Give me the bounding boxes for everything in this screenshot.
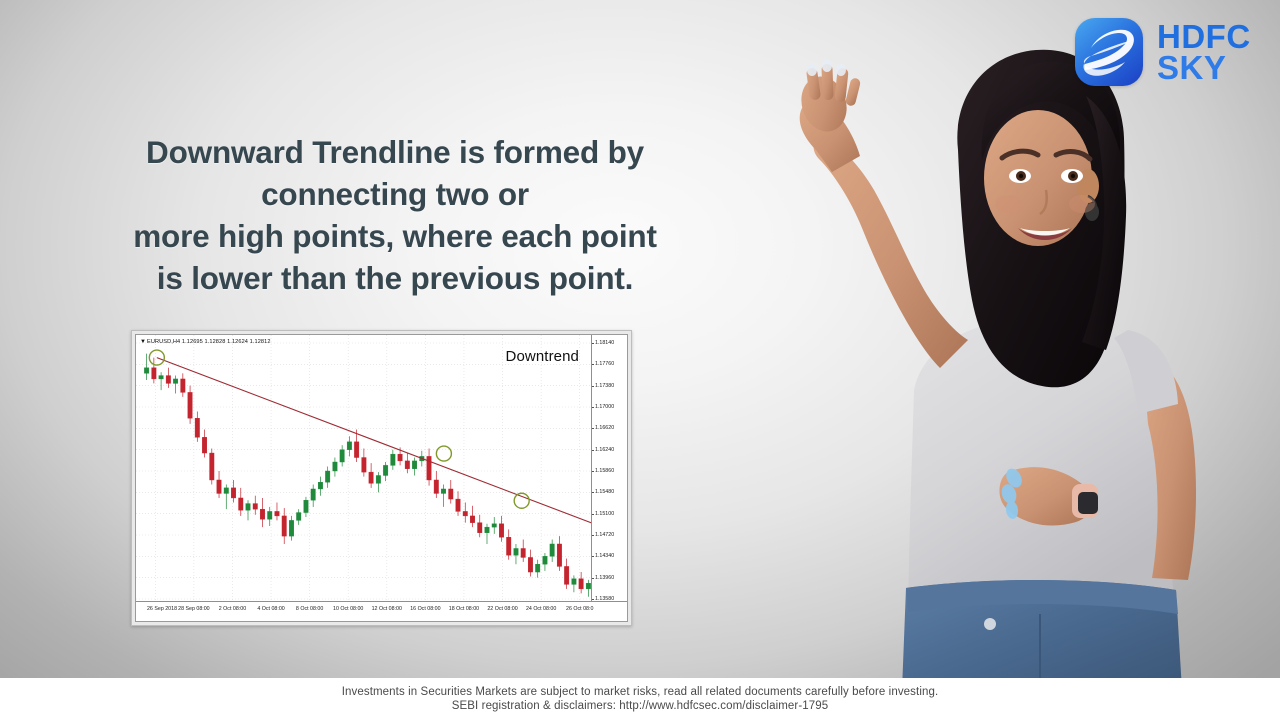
logo-line-hdfc: HDFC xyxy=(1157,21,1251,52)
hdfc-sky-swoosh-icon xyxy=(1075,18,1143,86)
presenter-figure xyxy=(690,0,1280,690)
logo-line-sky: SKY xyxy=(1157,52,1251,83)
brand-logo-text: HDFC SKY xyxy=(1157,21,1251,84)
price-axis-tick: 1.17760 xyxy=(595,361,614,367)
trading-chart-window: ▼EURUSD,H4 1.12695 1.12828 1.12624 1.128… xyxy=(131,330,632,626)
time-axis-tick: 28 Sep 08:00 xyxy=(178,606,210,612)
headline-line-2: connecting two or xyxy=(55,173,735,215)
downtrend-annotation-label: Downtrend xyxy=(506,348,579,365)
price-axis-tick: 1.13960 xyxy=(595,575,614,581)
price-axis-tick: 1.17000 xyxy=(595,404,614,410)
price-axis-tick: 1.15860 xyxy=(595,468,614,474)
candlestick-plot-area xyxy=(136,335,599,603)
price-axis: 1.181401.177601.173801.170001.166201.162… xyxy=(591,335,627,603)
time-axis-tick: 18 Oct 08:00 xyxy=(449,606,479,612)
time-axis-tick: 24 Oct 08:00 xyxy=(526,606,556,612)
time-axis-tick: 12 Oct 08:00 xyxy=(372,606,402,612)
price-axis-tick: 1.15100 xyxy=(595,511,614,517)
time-axis-tick: 4 Oct 08:00 xyxy=(257,606,284,612)
time-axis-tick: 10 Oct 08:00 xyxy=(333,606,363,612)
time-axis-tick: 16 Oct 08:00 xyxy=(410,606,440,612)
brand-logo: HDFC SKY xyxy=(1075,18,1251,86)
price-axis-tick: 1.16240 xyxy=(595,447,614,453)
chart-header-text: EURUSD,H4 1.12695 1.12828 1.12624 1.1281… xyxy=(147,339,271,345)
price-axis-tick: 1.15480 xyxy=(595,489,614,495)
time-axis: 26 Sep 201828 Sep 08:002 Oct 08:004 Oct … xyxy=(136,601,627,621)
disclaimer-line-2: SEBI registration & disclaimers: http://… xyxy=(452,700,829,712)
downward-trendline xyxy=(157,358,597,525)
headline-line-3: more high points, where each point xyxy=(55,215,735,257)
time-axis-tick: 26 Sep 2018 xyxy=(147,606,177,612)
disclaimer-bar: Investments in Securities Markets are su… xyxy=(0,678,1280,720)
video-frame: HDFC SKY Downward Trendline is formed by… xyxy=(0,0,1280,720)
time-axis-tick: 8 Oct 08:00 xyxy=(296,606,323,612)
time-axis-tick: 26 Oct 08:0 xyxy=(566,606,593,612)
price-axis-tick: 1.17380 xyxy=(595,383,614,389)
price-axis-tick: 1.14720 xyxy=(595,532,614,538)
chart-symbol-ohlc-header: ▼EURUSD,H4 1.12695 1.12828 1.12624 1.128… xyxy=(140,339,271,345)
price-axis-tick: 1.16620 xyxy=(595,425,614,431)
chart-inner-panel: ▼EURUSD,H4 1.12695 1.12828 1.12624 1.128… xyxy=(135,334,628,622)
disclaimer-line-1: Investments in Securities Markets are su… xyxy=(342,686,939,698)
time-axis-tick: 22 Oct 08:00 xyxy=(487,606,517,612)
price-axis-tick: 1.18140 xyxy=(595,340,614,346)
chevron-down-icon[interactable]: ▼ xyxy=(140,339,146,345)
headline-line-4: is lower than the previous point. xyxy=(55,257,735,299)
headline-line-1: Downward Trendline is formed by xyxy=(55,131,735,173)
price-axis-tick: 1.14340 xyxy=(595,553,614,559)
trendline-touch-markers xyxy=(149,350,529,508)
candlestick-svg xyxy=(136,335,599,603)
candlestick-series xyxy=(144,354,590,597)
headline-text: Downward Trendline is formed by connecti… xyxy=(55,131,735,299)
time-axis-tick: 2 Oct 08:00 xyxy=(219,606,246,612)
